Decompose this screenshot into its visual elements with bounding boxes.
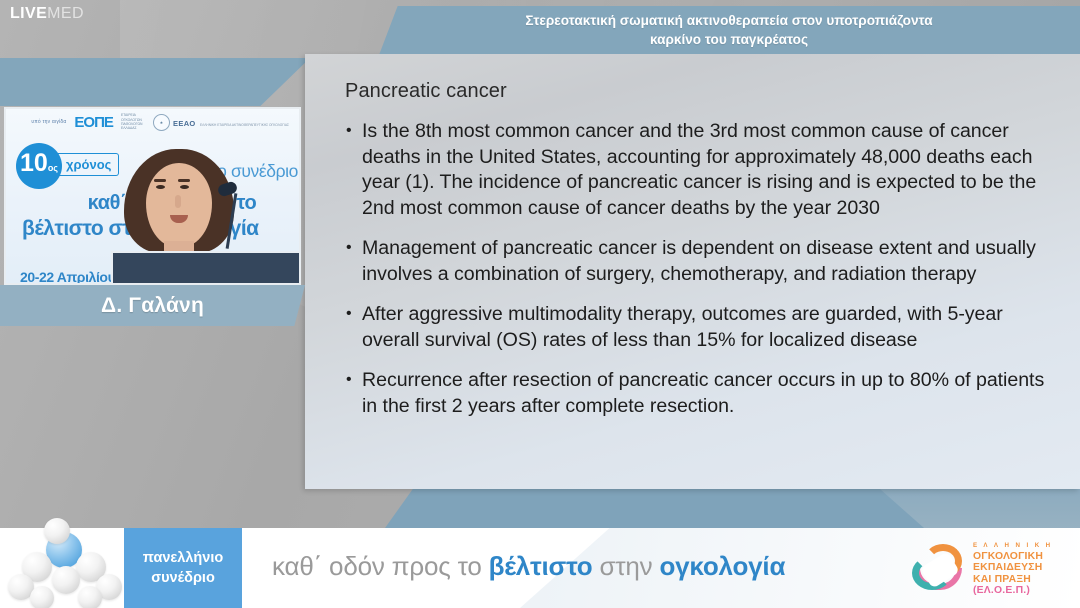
eeao-logo: ★ ΕΕΑΟ ΕΛΛΗΝΙΚΗ ΕΤΑΙΡΕΙΑ ΑΚΤΙΝΟΘΕΡΑΠΕΥΤΙ… xyxy=(153,113,289,131)
livemed-logo: LIVEMED xyxy=(10,4,84,24)
anniversary-badge: 10ος xyxy=(16,143,62,189)
eloep-logo-text: Ε Λ Λ Η Ν Ι Κ Η ΟΓΚΟΛΟΓΙΚΗ ΕΚΠΑΙΔΕΥΣΗ ΚΑ… xyxy=(973,540,1053,596)
slide-bullet: Management of pancreatic cancer is depen… xyxy=(345,236,1046,287)
eloep-logo: Ε Λ Λ Η Ν Ι Κ Η ΟΓΚΟΛΟΓΙΚΗ ΕΚΠΑΙΔΕΥΣΗ ΚΑ… xyxy=(910,540,1053,596)
presentation-title-line1: Στερεοτακτική σωματική ακτινοθεραπεία στ… xyxy=(429,11,1029,30)
livestream-stage: LIVEMED Στερεοτακτική σωματική ακτινοθερ… xyxy=(0,0,1080,608)
footer-slogan: καθ΄ οδόν προς το βέλτιστο στην ογκολογί… xyxy=(272,551,785,582)
anniversary-badge-number: 10 xyxy=(20,143,48,183)
presentation-title-banner: Στερεοτακτική σωματική ακτινοθεραπεία στ… xyxy=(378,6,1080,54)
speaker-eye-left xyxy=(156,185,165,189)
sphere xyxy=(44,518,70,544)
speaker-video[interactable]: υπό την αιγίδα ΕΟΠΕ ΕΤΑΙΡΕΙΑ ΟΓΚΟΛΟΓΩΝ Π… xyxy=(4,107,301,285)
podium-laptop xyxy=(111,251,301,285)
background-blue-band-left xyxy=(0,58,310,106)
speaker-name: Δ. Γαλάνη xyxy=(101,294,204,318)
conference-tab: πανελλήνιο συνέδριο xyxy=(124,528,242,608)
footer-slogan-emphasis-1: βέλτιστο xyxy=(489,551,593,581)
conference-tab-line2: συνέδριο xyxy=(151,568,215,588)
eloep-line-0: Ε Λ Λ Η Ν Ι Κ Η xyxy=(973,540,1053,551)
eloep-line-3: ΚΑΙ ΠΡΑΞΗ xyxy=(973,574,1053,585)
slide-bullet: After aggressive multimodality therapy, … xyxy=(345,302,1046,353)
livemed-logo-bold: LIVE xyxy=(10,5,47,22)
sphere xyxy=(30,586,54,608)
backdrop-line-4: 20-22 Απριλίου xyxy=(20,269,115,285)
presentation-title: Στερεοτακτική σωματική ακτινοθεραπεία στ… xyxy=(429,11,1029,49)
speaker-eyebrow-right xyxy=(178,179,190,182)
eope-logo: ΕΟΠΕ xyxy=(74,114,113,131)
eloep-line-2: ΕΚΠΑΙΔΕΥΣΗ xyxy=(973,562,1053,573)
speaker-name-band: Δ. Γαλάνη xyxy=(0,285,305,326)
sphere xyxy=(78,586,102,608)
speaker-nose xyxy=(175,195,181,208)
eloep-swirl-icon xyxy=(910,540,966,596)
footer-slogan-emphasis-2: ογκολογία xyxy=(659,551,785,581)
speaker-eyebrow-left xyxy=(154,179,166,182)
backdrop-logo-row: υπό την αιγίδα ΕΟΠΕ ΕΤΑΙΡΕΙΑ ΟΓΚΟΛΟΓΩΝ Π… xyxy=(6,109,299,135)
eeao-logo-text-wrap: ΕΕΑΟ ΕΛΛΗΝΙΚΗ ΕΤΑΙΡΕΙΑ ΑΚΤΙΝΟΘΕΡΑΠΕΥΤΙΚΗ… xyxy=(173,113,289,131)
slide-bullet-list: Is the 8th most common cancer and the 3r… xyxy=(345,119,1046,419)
conference-spheres-logo xyxy=(8,528,124,608)
slide-bullet: Is the 8th most common cancer and the 3r… xyxy=(345,119,1046,221)
eeao-logo-subtitle: ΕΛΛΗΝΙΚΗ ΕΤΑΙΡΕΙΑ ΑΚΤΙΝΟΘΕΡΑΠΕΥΤΙΚΗΣ ΟΓΚ… xyxy=(200,123,289,127)
anniversary-badge-suffix: ος xyxy=(48,163,58,173)
slide-panel: Pancreatic cancer Is the 8th most common… xyxy=(305,54,1080,489)
backdrop-aigida-label: υπό την αιγίδα xyxy=(31,119,66,125)
livemed-logo-light: MED xyxy=(47,5,84,22)
slide-title: Pancreatic cancer xyxy=(345,80,1046,103)
eloep-line-1: ΟΓΚΟΛΟΓΙΚΗ xyxy=(973,551,1053,562)
eeao-logo-text: ΕΕΑΟ xyxy=(173,119,196,128)
eloep-line-4: (ΕΛ.Ο.Ε.Π.) xyxy=(973,585,1053,596)
slide-bullet: Recurrence after resection of pancreatic… xyxy=(345,368,1046,419)
footer-slogan-pre: καθ΄ οδόν προς το xyxy=(272,551,489,581)
footer-slogan-mid: στην xyxy=(592,551,659,581)
eeao-seal-icon: ★ xyxy=(153,114,170,131)
conference-tab-line1: πανελλήνιο xyxy=(143,548,224,568)
presentation-title-line2: καρκίνο του παγκρέατος xyxy=(429,30,1029,49)
eope-logo-subtitle: ΕΤΑΙΡΕΙΑ ΟΓΚΟΛΟΓΩΝ ΠΑΘΟΛΟΓΩΝ ΕΛΛΑΔΑΣ xyxy=(121,113,145,131)
sphere xyxy=(52,566,80,594)
speaker-eye-right xyxy=(180,185,189,189)
